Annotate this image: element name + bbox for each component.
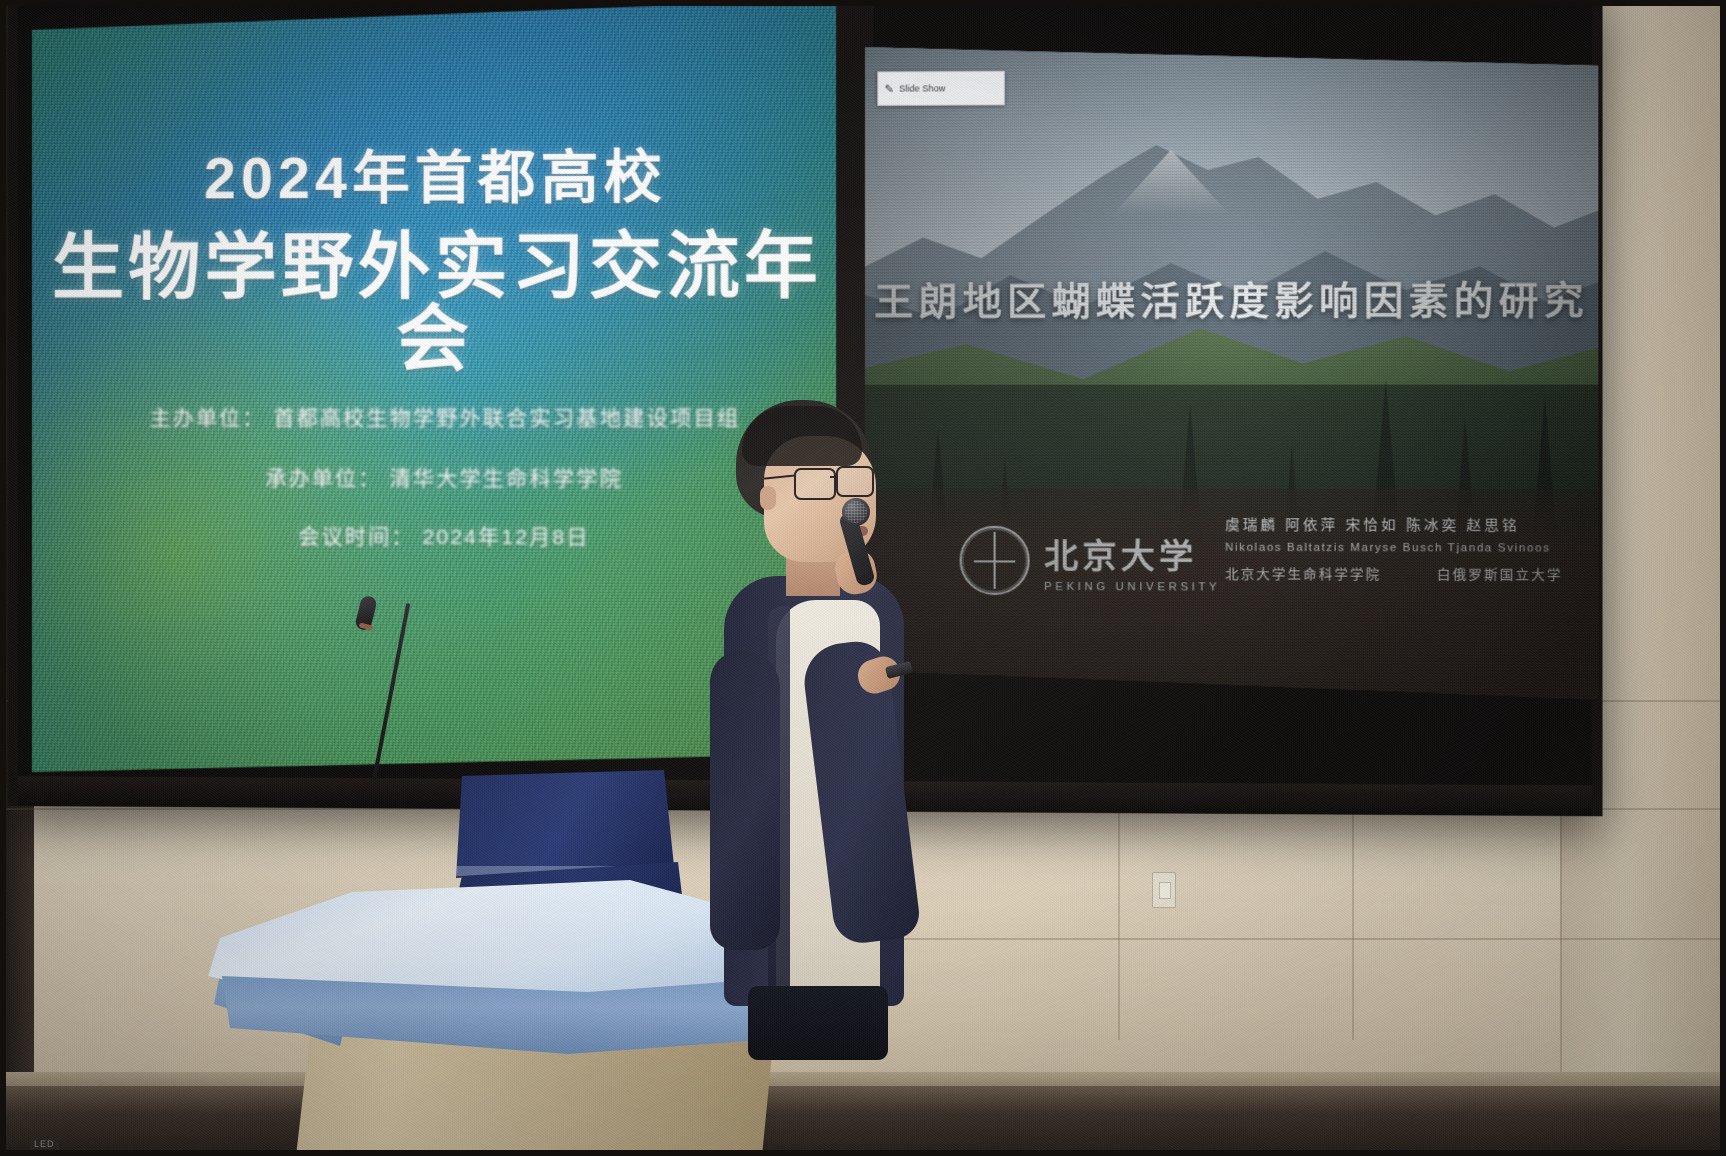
presenter-hair-front [742, 406, 862, 466]
right-slide-panel: 王朗地区蝴蝶活跃度影响因素的研究 北京大学 PEKING UNIVERSITY … [865, 43, 1598, 699]
presenter-left-arm [710, 650, 780, 950]
screen-label-group: LED [30, 1138, 59, 1150]
slideshow-toolbar[interactable]: ✎ Slide Show [877, 71, 1005, 106]
eyeglasses-lens-right [836, 466, 874, 497]
pen-icon[interactable]: ✎ [884, 82, 893, 95]
presenter-trousers [748, 986, 888, 1060]
slide-vignette [865, 43, 1598, 699]
conference-title-line1: 2024年首都高校 [32, 149, 842, 209]
conference-title-line2: 生物学野外实习交流年会 [32, 230, 842, 376]
presenter-ear [760, 486, 776, 510]
wall-seam [860, 938, 1726, 940]
eyeglasses-bridge [830, 476, 838, 478]
power-outlet [1152, 872, 1176, 908]
slideshow-toolbar-label: Slide Show [899, 83, 945, 93]
photograph-canvas: 2024年首都高校 生物学野外实习交流年会 主办单位： 首都高校生物学野外联合实… [0, 0, 1726, 1156]
presenter [690, 400, 920, 1060]
eyeglasses-lens-left [794, 468, 836, 500]
confidence-monitor [456, 770, 674, 878]
screen-tag-label: LED [30, 1138, 59, 1150]
handheld-microphone-grille [842, 498, 870, 526]
